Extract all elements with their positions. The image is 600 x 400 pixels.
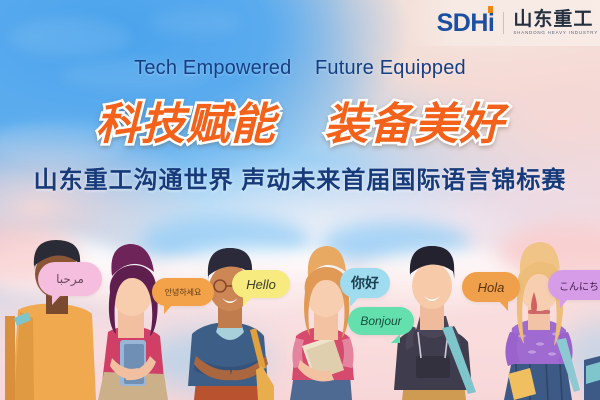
bubble-tail-icon (350, 297, 359, 307)
speech-bubble-japanese-text: こんにちは (559, 278, 600, 293)
speech-bubble-french-text: Bonjour (360, 314, 401, 328)
person-6 (504, 242, 600, 400)
sdhi-logo: SDHi 山东重工 SHANDONG HEAVY INDUSTRY (411, 0, 600, 46)
speech-bubble-chinese: 你好 (340, 268, 390, 298)
sdhi-orange-dot-icon (488, 6, 493, 13)
speech-bubble-french: Bonjour (348, 307, 414, 335)
person-4 (290, 246, 354, 400)
bubble-tail-icon (243, 297, 252, 307)
english-title: Tech Empowered Future Equipped (0, 57, 600, 80)
bubble-tail-icon (52, 295, 61, 305)
speech-bubble-chinese-text: 你好 (351, 273, 379, 293)
logo-divider (503, 12, 504, 34)
bubble-tail-icon (391, 334, 400, 343)
chinese-headline-part1: 科技赋能 (96, 100, 276, 149)
poster-banner: SDHi 山东重工 SHANDONG HEAVY INDUSTRY Tech E… (0, 0, 600, 400)
bubble-tail-icon (560, 299, 568, 308)
speech-bubble-japanese: こんにちは (548, 270, 600, 300)
speech-bubble-korean-text: 안녕하세요 (165, 287, 202, 298)
speech-bubble-spanish: Hola (462, 272, 520, 302)
chinese-headline: 科技赋能 装备美好 (0, 88, 600, 152)
sdhi-wordmark: SDHi (437, 11, 495, 36)
bubble-tail-icon (164, 305, 172, 314)
logo-chinese-block: 山东重工 SHANDONG HEAVY INDUSTRY (513, 10, 598, 36)
speech-bubble-arabic-text: مرحبا (56, 272, 84, 286)
speech-bubble-english: Hello (232, 270, 290, 298)
english-title-part2: Future Equipped (315, 57, 466, 79)
sdhi-wordmark-text: SDHi (437, 9, 495, 37)
chinese-subtitle: 山东重工沟通世界 声动未来首届国际语言锦标赛 (0, 160, 600, 195)
speech-bubble-korean: 안녕하세요 (152, 278, 214, 306)
chinese-headline-part2: 装备美好 (324, 100, 504, 149)
logo-english-name: SHANDONG HEAVY INDUSTRY (513, 31, 598, 36)
speech-bubble-english-text: Hello (246, 277, 276, 292)
english-title-part1: Tech Empowered (134, 57, 291, 79)
speech-bubble-spanish-text: Hola (478, 280, 505, 295)
speech-bubble-arabic: مرحبا (38, 262, 102, 296)
logo-chinese-name: 山东重工 (513, 10, 598, 29)
bubble-tail-icon (499, 301, 508, 311)
person-2 (98, 244, 168, 400)
